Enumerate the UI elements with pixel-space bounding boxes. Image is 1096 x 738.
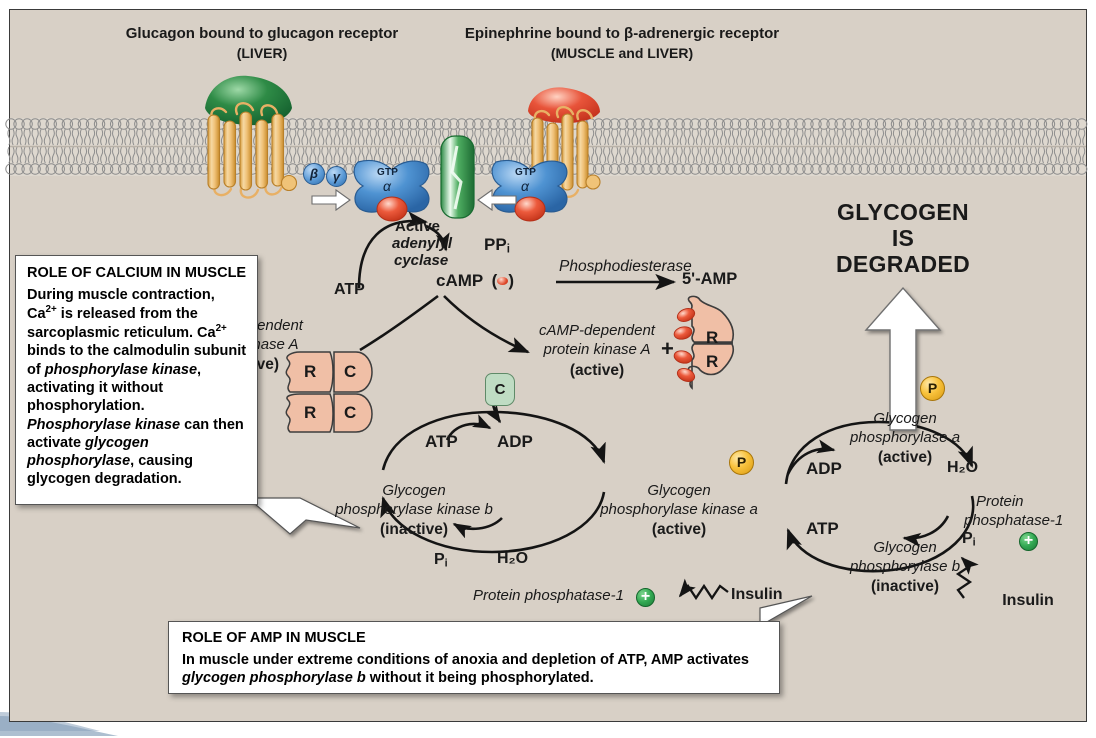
kinase-b-state: (inactive) — [380, 521, 448, 538]
pka-regulatory-dimer — [673, 296, 733, 388]
phosphorylase-b-line1: Glycogen — [873, 540, 936, 557]
cyclase-label-line2: adenylyl — [392, 236, 452, 253]
gtp-label-left: GTP — [377, 167, 398, 178]
phosphorylase-a-state: (active) — [878, 449, 932, 466]
ppi-label: PPi — [484, 235, 510, 256]
phosphodiesterase-label: Phosphodiesterase — [559, 258, 692, 275]
camp-symbol: () — [492, 271, 514, 290]
phosphorylase-phosphatase-line2: phosphatase-1 — [964, 513, 1063, 530]
camp-label: cAMP () — [436, 271, 514, 290]
g-gamma-subunit: γ — [326, 166, 347, 187]
phosphorylase-insulin-label: Insulin — [1002, 592, 1054, 610]
kinase-a-line1: Glycogen — [647, 483, 710, 500]
kinase-cycle-adp: ADP — [497, 432, 533, 451]
cyclase-label-line1: Active — [395, 219, 440, 236]
pka-active-line2: protein kinase A — [543, 342, 650, 359]
pka-activation-arrow-right — [444, 296, 528, 352]
cyclase-label-line3: cyclase — [394, 253, 448, 270]
pka-subunit-R2: R — [304, 403, 316, 422]
g-beta-subunit: β — [303, 163, 325, 185]
header-epinephrine-line2: (MUSCLE and LIVER) — [551, 46, 693, 62]
kinase-cycle-atp: ATP — [425, 432, 458, 451]
phosphorylase-b-line2: phosphorylase b — [850, 559, 960, 576]
outcome-line3: DEGRADED — [836, 252, 970, 278]
adenylyl-cyclase-enzyme — [441, 136, 474, 218]
phosphorylase-phosphatase-activator-badge: + — [1019, 532, 1038, 551]
glycogen-degraded-arrow — [866, 288, 940, 430]
phosphorylase-phosphatase-line1: Protein — [976, 494, 1024, 511]
kinase-phosphate-badge: P — [729, 450, 754, 475]
header-glucagon-line1: Glucagon bound to glucagon receptor — [126, 26, 399, 43]
pka-subunit-R1: R — [304, 362, 316, 381]
callout-role-of-amp: ROLE OF AMP IN MUSCLE In muscle under ex… — [168, 621, 780, 694]
phosphorylase-a-line2: phosphorylase a — [850, 430, 960, 447]
five-prime-amp-label: 5'-AMP — [682, 270, 737, 288]
callout-calcium-title: ROLE OF CALCIUM IN MUSCLE — [27, 265, 247, 281]
phosphorylase-a-line1: Glycogen — [873, 411, 936, 428]
callout-calcium-body: During muscle contraction, Ca2+ is relea… — [27, 286, 247, 489]
kinase-b-line1: Glycogen — [382, 483, 445, 500]
kinase-cycle-water: H₂O — [497, 550, 528, 568]
header-glucagon-line2: (LIVER) — [237, 46, 288, 62]
pka-subunit-C2: C — [344, 403, 356, 422]
kinase-cycle-pi: Pi — [434, 551, 448, 570]
pka-holoenzyme-r2c2 — [286, 352, 372, 432]
phosphorylase-cycle-water: H₂O — [947, 459, 978, 477]
phosphorylase-phosphate-badge: P — [920, 376, 945, 401]
atp-substrate-label: ATP — [334, 281, 365, 299]
phosphorylase-cycle-atp: ATP — [806, 519, 839, 538]
callout-role-of-calcium: ROLE OF CALCIUM IN MUSCLE During muscle … — [15, 255, 258, 505]
catalytic-subunit-c: C — [485, 373, 515, 406]
kinase-phosphatase-label: Protein phosphatase-1 — [473, 588, 624, 605]
pka-activation-arrow-left — [360, 296, 438, 350]
g-alpha-label-right: α — [521, 179, 529, 195]
glucagon-receptor — [205, 76, 297, 198]
pka-subunit-C1: C — [344, 362, 356, 381]
g-alpha-label-left: α — [383, 179, 391, 195]
pka-plus-sign: + — [661, 337, 674, 362]
kinase-phosphatase-activator-badge: + — [636, 588, 655, 607]
r-dimer-label-2: R — [706, 352, 718, 371]
r-dimer-label-1: R — [706, 328, 718, 347]
insulin-signal-middle — [680, 586, 728, 598]
kinase-insulin-label: Insulin — [731, 586, 783, 604]
phosphorylase-b-state: (inactive) — [871, 578, 939, 595]
outcome-line1: GLYCOGEN — [837, 200, 969, 226]
kinase-a-state: (active) — [652, 521, 706, 538]
phosphorylase-cycle-pi: Pi — [962, 530, 976, 549]
phosphorylase-cycle-adp: ADP — [806, 459, 842, 478]
kinase-b-line2: phosphorylase kinase b — [335, 502, 493, 519]
kinase-a-line2: phosphorylase kinase a — [600, 502, 758, 519]
pka-active-state: (active) — [570, 362, 624, 379]
callout-amp-title: ROLE OF AMP IN MUSCLE — [182, 630, 767, 646]
pka-active-line1: cAMP-dependent — [539, 323, 655, 340]
figure-canvas: Glucagon bound to glucagon receptor (LIV… — [0, 0, 1096, 738]
outcome-line2: IS — [892, 226, 914, 252]
header-epinephrine-line1: Epinephrine bound to β-adrenergic recept… — [465, 26, 779, 43]
gtp-label-right: GTP — [515, 167, 536, 178]
callout-amp-body: In muscle under extreme conditions of an… — [182, 651, 767, 688]
